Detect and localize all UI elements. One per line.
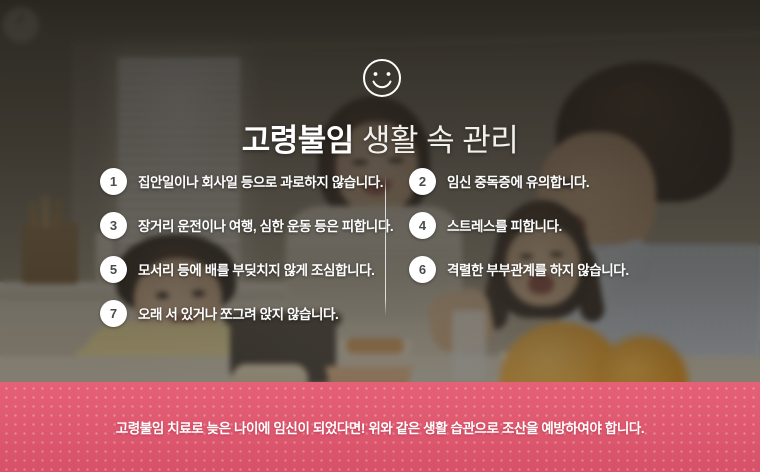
tip-number-badge: 5 [100,256,127,283]
tip-number-badge: 6 [409,256,436,283]
list-item: 5 모서리 등에 배를 부딪치지 않게 조심합니다. [100,254,390,284]
tip-number-badge: 1 [100,168,127,195]
list-item: 7 오래 서 있거나 쪼그려 앉지 않습니다. [100,298,390,328]
list-item: 4 스트레스를 피합니다. [409,210,669,240]
footer-banner: 고령불임 치료로 늦은 나이에 임신이 되었다면! 위와 같은 생활 습관으로 … [0,382,760,472]
tip-text: 오래 서 있거나 쪼그려 앉지 않습니다. [138,303,338,323]
title-strong: 고령불임 [242,123,354,158]
tip-text: 스트레스를 피합니다. [447,215,562,235]
tips-column-right: 2 임신 중독증에 유의합니다. 4 스트레스를 피합니다. 6 격렬한 부부관… [409,166,669,298]
smiley-face-icon [362,58,402,98]
page-title: 고령불임 생활 속 관리 [0,121,760,161]
tip-number-badge: 7 [100,300,127,327]
title-light: 생활 속 관리 [354,123,518,158]
tip-text: 모서리 등에 배를 부딪치지 않게 조심합니다. [138,259,374,279]
tip-text: 임신 중독증에 유의합니다. [447,171,589,191]
tip-number-badge: 3 [100,212,127,239]
infographic-poster: 고령불임 생활 속 관리 1 집안일이나 회사일 등으로 과로하지 않습니다. … [0,0,760,472]
tips-column-left: 1 집안일이나 회사일 등으로 과로하지 않습니다. 3 장거리 운전이나 여행… [100,166,390,342]
tip-text: 격렬한 부부관계를 하지 않습니다. [447,259,629,279]
footer-message: 고령불임 치료로 늦은 나이에 임신이 되었다면! 위와 같은 생활 습관으로 … [0,382,760,472]
list-item: 1 집안일이나 회사일 등으로 과로하지 않습니다. [100,166,390,196]
tip-text: 장거리 운전이나 여행, 심한 운동 등은 피합니다. [138,215,393,235]
tip-number-badge: 2 [409,168,436,195]
tip-text: 집안일이나 회사일 등으로 과로하지 않습니다. [138,171,383,191]
list-item: 6 격렬한 부부관계를 하지 않습니다. [409,254,669,284]
list-item: 3 장거리 운전이나 여행, 심한 운동 등은 피합니다. [100,210,390,240]
tip-number-badge: 4 [409,212,436,239]
list-item: 2 임신 중독증에 유의합니다. [409,166,669,196]
